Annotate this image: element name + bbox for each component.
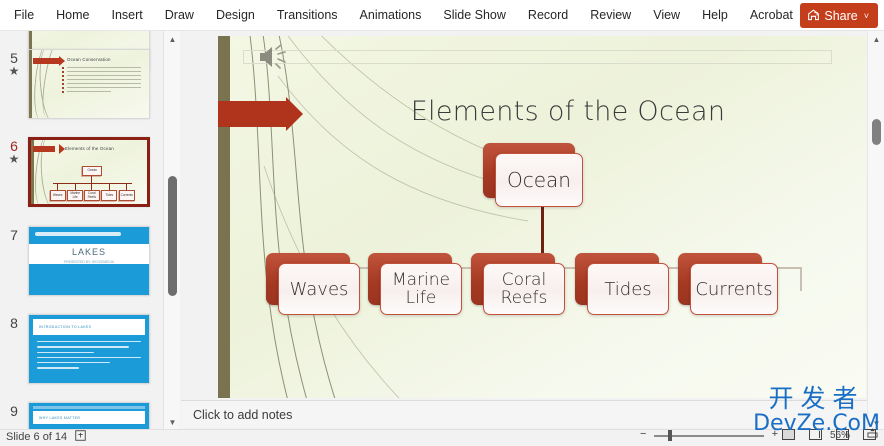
ribbon-tab-help[interactable]: Help <box>691 0 739 31</box>
scroll-up-arrow-icon[interactable]: ▲ <box>868 31 884 47</box>
thumbnail-org-chart: Ocean Waves Marine Life Coral Reefs Tide… <box>49 166 141 194</box>
share-icon <box>807 9 820 22</box>
node-coral-reefs-line2: Reefs <box>501 289 548 307</box>
fit-slide-icon[interactable] <box>867 427 878 443</box>
status-bar: Slide 6 of 14 − + 56% <box>0 429 884 443</box>
theme-arrow <box>33 58 59 64</box>
thumbnail-subtitle-7: PRESENTED BY: DEVZEMEDIA <box>29 260 149 264</box>
thumbnail-number-9-text: 9 <box>10 403 18 419</box>
scroll-up-arrow-icon[interactable]: ▲ <box>164 31 181 48</box>
thumbnail-canvas-7: LAKES PRESENTED BY: DEVZEMEDIA <box>29 227 149 295</box>
thumbnail-frame-7[interactable]: LAKES PRESENTED BY: DEVZEMEDIA <box>28 226 150 296</box>
thumbnail-number-8: 8 <box>0 314 28 384</box>
thumbnail-pane-scrollbar[interactable]: ▲ ▼ <box>163 31 180 431</box>
thumbnail-title-8: INTRODUCTION TO LAKES <box>39 325 91 329</box>
thumbnail-frame-5[interactable]: Ocean Conservation <box>28 49 150 119</box>
ribbon-tab-transitions[interactable]: Transitions <box>266 0 349 31</box>
thumbnail-bullets-5 <box>67 68 141 96</box>
ribbon-tab-design[interactable]: Design <box>205 0 266 31</box>
zoom-percentage[interactable]: 56% <box>830 429 850 443</box>
notes-pane[interactable]: Click to add notes <box>181 400 884 428</box>
zoom-in-button[interactable]: + <box>772 428 778 440</box>
node-tides[interactable]: Tides <box>587 263 669 315</box>
connector <box>109 183 110 190</box>
thumbnail-node-root: Ocean <box>82 166 102 176</box>
thumbnail-frame-6[interactable]: Elements of the Ocean Ocean Waves Marine… <box>28 137 150 207</box>
node-marine-life[interactable]: Marine Life <box>380 263 462 315</box>
thumbnail-title-9: WHY LAKES MATTER <box>39 416 80 420</box>
thumbnail-number-8-text: 8 <box>10 315 18 331</box>
scrollbar-thumb[interactable] <box>872 119 881 145</box>
node-ocean[interactable]: Ocean <box>495 153 583 207</box>
thumbnail-number-7-text: 7 <box>10 227 18 243</box>
chevron-down-icon[interactable]: ˅ <box>864 11 869 21</box>
thumbnail-frame-8[interactable]: INTRODUCTION TO LAKES <box>28 314 150 384</box>
thumbnail-title-7: LAKES <box>29 247 149 257</box>
thumbnail-row-5[interactable]: 5 ★ Ocean Conservation <box>0 49 163 119</box>
connector <box>91 176 92 183</box>
thumbnail-row-8[interactable]: 8 INTRODUCTION TO LAKES <box>0 314 163 384</box>
ribbon-tab-record[interactable]: Record <box>517 0 579 31</box>
share-button[interactable]: Share ˅ <box>800 3 878 28</box>
connector <box>126 183 127 190</box>
animation-star-icon-5: ★ <box>0 65 28 78</box>
thumbnail-title-5: Ocean Conservation <box>67 57 111 62</box>
thumbnail-canvas-5: Ocean Conservation <box>29 50 149 118</box>
theme-arrow <box>33 146 55 152</box>
slide-canvas[interactable]: Elements of the Ocean Ocean Waves Marine… <box>218 36 866 398</box>
zoom-slider[interactable]: − + <box>654 429 764 443</box>
slide-thumbnail-pane[interactable]: 5 ★ Ocean Conservation 6 ★ <box>0 31 163 431</box>
thumbnail-number-6: 6 ★ <box>0 137 28 207</box>
share-button-label: Share <box>824 9 857 23</box>
thumbnail-number-5: 5 ★ <box>0 49 28 119</box>
theme-strip <box>33 406 145 409</box>
thumbnail-row-6[interactable]: 6 ★ Elements of the Ocean <box>0 137 163 207</box>
connector <box>75 183 76 190</box>
ribbon-tab-slide-show[interactable]: Slide Show <box>432 0 517 31</box>
connector <box>91 183 92 190</box>
thumbnail-node-waves: Waves <box>50 190 66 201</box>
thumbnail-number-7: 7 <box>0 226 28 296</box>
node-currents[interactable]: Currents <box>690 263 778 315</box>
thumbnail-frame-9[interactable]: WHY LAKES MATTER <box>28 402 150 431</box>
ribbon-tab-home[interactable]: Home <box>45 0 100 31</box>
ribbon-tab-bar: File Home Insert Draw Design Transitions… <box>0 0 884 31</box>
node-coral-reefs[interactable]: Coral Reefs <box>483 263 565 315</box>
ribbon-tab-animations[interactable]: Animations <box>349 0 433 31</box>
ribbon-tab-review[interactable]: Review <box>579 0 642 31</box>
ribbon-tab-draw[interactable]: Draw <box>154 0 205 31</box>
scrollbar-thumb[interactable] <box>168 176 177 296</box>
slide-indicator[interactable]: Slide 6 of 14 <box>6 430 67 444</box>
normal-view-button[interactable] <box>782 429 795 440</box>
zoom-knob[interactable] <box>668 430 672 441</box>
ribbon-tab-file[interactable]: File <box>0 0 45 31</box>
thumbnail-node-coral: Coral Reefs <box>84 190 100 201</box>
thumbnail-title-6: Elements of the Ocean <box>65 146 114 151</box>
thumbnail-node-marine: Marine Life <box>67 190 83 201</box>
animation-star-icon-6: ★ <box>0 153 28 166</box>
thumbnail-canvas-9: WHY LAKES MATTER <box>29 403 149 431</box>
thumbnail-row-7[interactable]: 7 LAKES PRESENTED BY: DEVZEMEDIA <box>0 226 163 296</box>
thumbnail-bullets-8 <box>37 341 141 373</box>
zoom-out-button[interactable]: − <box>640 428 646 440</box>
node-marine-life-line2: Life <box>406 289 437 307</box>
theme-strip <box>35 232 121 236</box>
accessibility-icon[interactable] <box>75 430 86 446</box>
org-chart: Ocean Waves Marine Life Coral Reefs Tide… <box>218 36 866 398</box>
slide-sorter-view-button[interactable] <box>809 429 822 440</box>
thumbnail-node-currents: Currents <box>119 190 135 201</box>
ribbon-tab-acrobat[interactable]: Acrobat <box>739 0 804 31</box>
node-waves[interactable]: Waves <box>278 263 360 315</box>
thumbnail-row-9[interactable]: 9 WHY LAKES MATTER <box>0 402 163 431</box>
thumbnail-node-tides: Tides <box>101 190 117 201</box>
notes-placeholder[interactable]: Click to add notes <box>193 408 292 422</box>
thumbnail-canvas-8: INTRODUCTION TO LAKES <box>29 315 149 383</box>
thumbnail-number-9: 9 <box>0 402 28 431</box>
slide-editor-area[interactable]: Elements of the Ocean Ocean Waves Marine… <box>181 31 867 400</box>
ribbon-tab-view[interactable]: View <box>642 0 691 31</box>
ribbon-tab-insert[interactable]: Insert <box>101 0 154 31</box>
thumbnail-canvas-6: Elements of the Ocean Ocean Waves Marine… <box>31 140 147 204</box>
node-coral-reefs-line1: Coral <box>502 271 546 289</box>
editor-vertical-scrollbar[interactable]: ▲ ▼ <box>867 31 884 431</box>
node-marine-life-line1: Marine <box>392 271 450 289</box>
connector <box>57 183 58 190</box>
connector-drop-currents <box>800 267 802 291</box>
